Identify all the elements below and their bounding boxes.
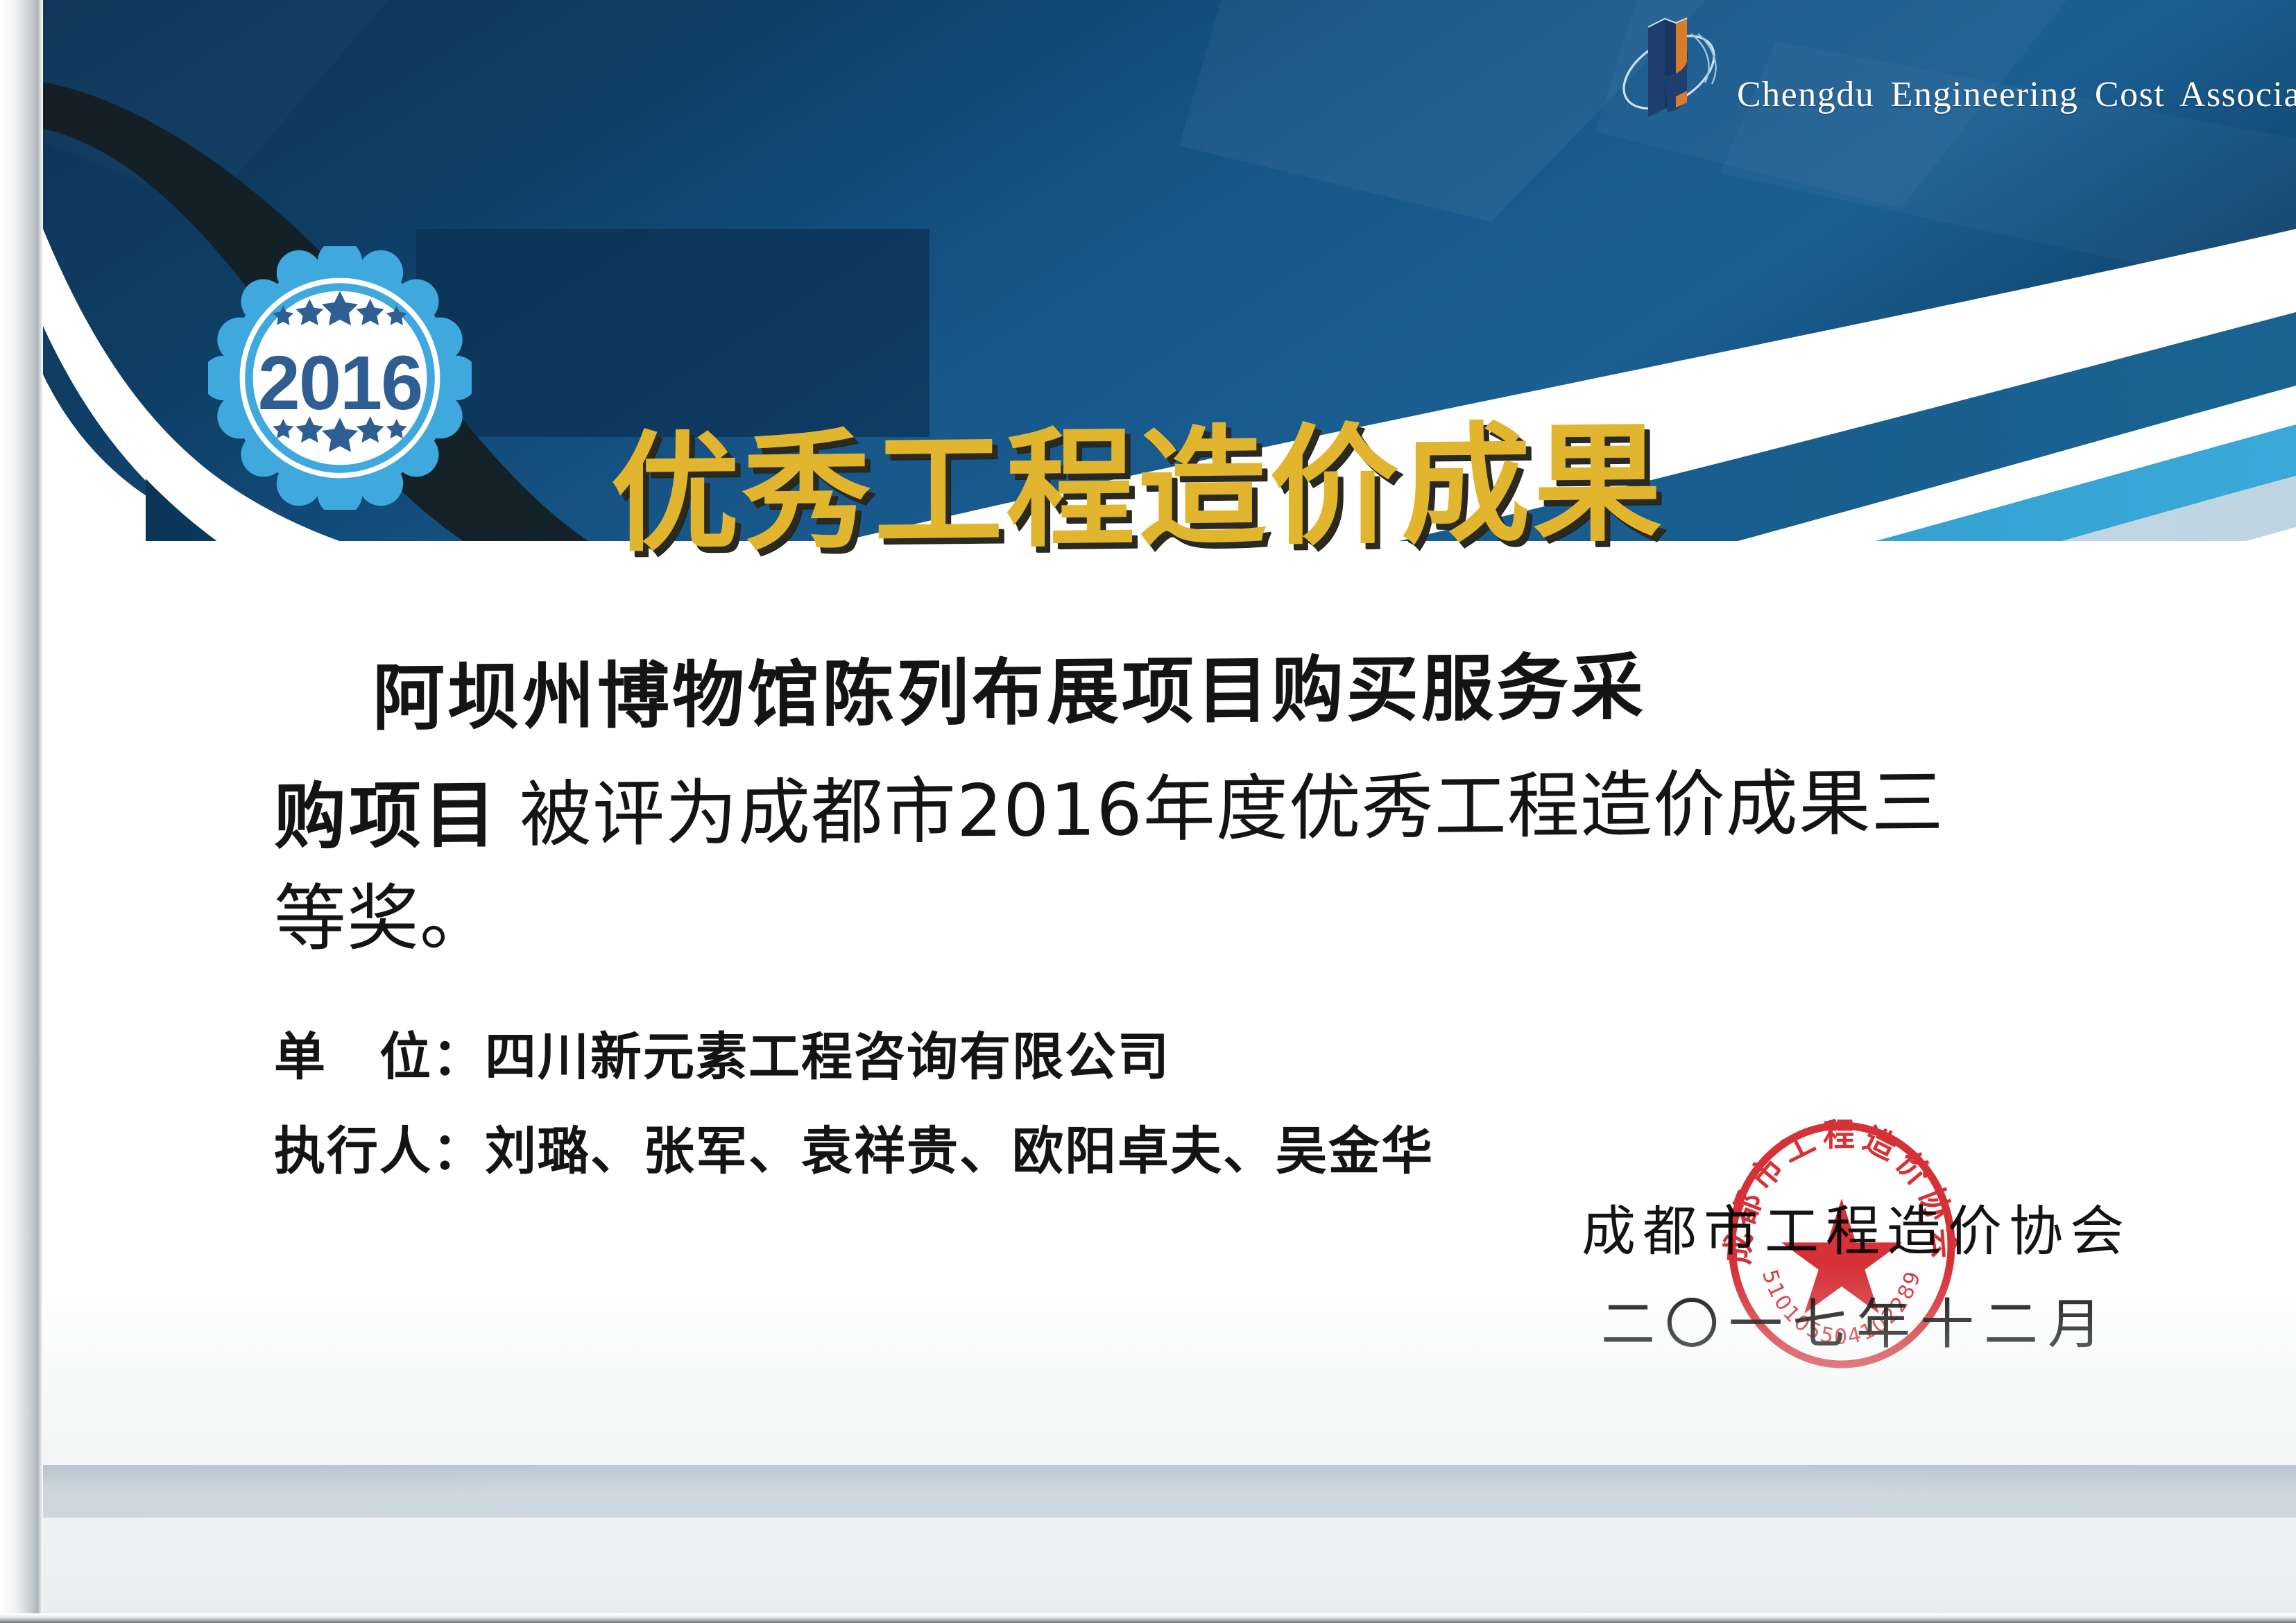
body-line-2: 购项目被评为成都市2016年度优秀工程造价成果三 [274,755,2168,863]
body-line-1: 阿坝州博物馆陈列布展项目购买服务采 [274,637,2168,745]
executor-value: 刘璐、张军、袁祥贵、欧阳卓夫、吴金华 [485,1122,1434,1181]
page-title: 优秀工程造价成果 [610,419,1665,559]
association-name-en: Chengdu Engineering Cost Association [1737,74,2296,128]
unit-value: 四川新元素工程咨询有限公司 [485,1027,1170,1087]
red-star-icon [1781,1199,1902,1314]
building-swoosh-logo-icon [1609,6,1734,128]
official-red-seal: 成都市工程造价协会 510105504102289 [1720,1117,1963,1373]
certificate-body: 阿坝州博物馆陈列布展项目购买服务采 购项目被评为成都市2016年度优秀工程造价成… [274,645,2168,1185]
footer-bar-shading [43,1465,2296,1518]
scan-edge-bottom [0,1613,2296,1623]
body-line-3: 等奖。 [274,873,2168,964]
certificate-page: 2016 Chengdu [0,0,2296,1623]
award-seal-badge: 2016 [208,246,472,510]
badge-year-label: 2016 [208,246,472,510]
executor-label: 执行人： [274,1122,485,1181]
association-branding: Chengdu Engineering Cost Association [1609,3,2275,128]
body-line-2-rest: 被评为成都市2016年度优秀工程造价成果三 [520,760,1944,857]
body-line-2-emphasis: 购项目 [274,773,499,859]
scan-edge-left [0,0,43,1623]
unit-label: 单 位： [274,1027,485,1087]
unit-row: 单 位：四川新元素工程咨询有限公司 [274,1024,2168,1090]
